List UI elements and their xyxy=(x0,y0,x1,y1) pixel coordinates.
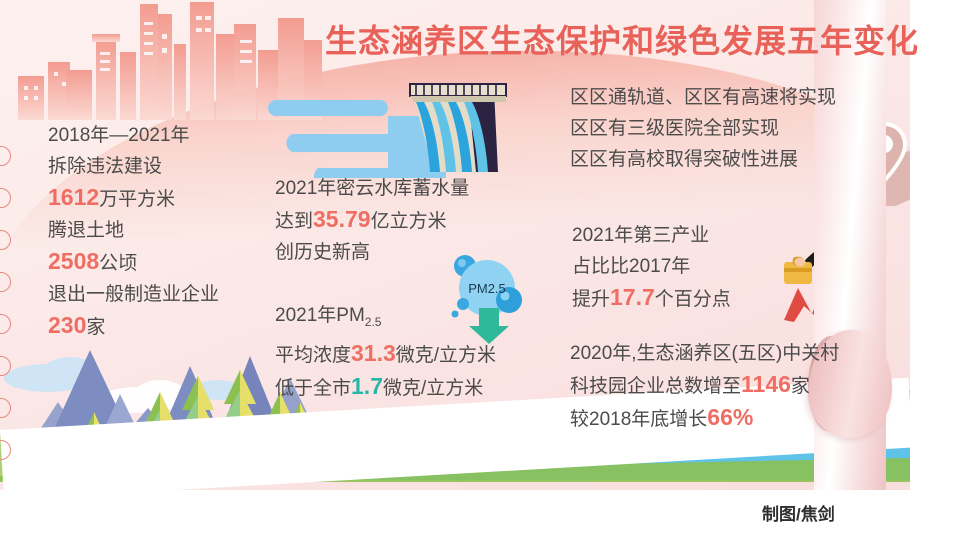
stat-line: 创历史新高 xyxy=(275,237,469,268)
stat-line: 2018年—2021年 xyxy=(48,120,219,151)
stat-line: 2020年,生态涵养区(五区)中关村 xyxy=(570,338,839,369)
stat-block-demolition: 2018年—2021年 拆除违法建设 1612万平方米 腾退土地 2508公顷 … xyxy=(48,120,219,343)
page-title: 生态涵养区生态保护和绿色发展五年变化 xyxy=(325,16,919,62)
stat-line: 较2018年底增长66% xyxy=(570,402,839,435)
stat-block-infrastructure: 区区通轨道、区区有高速将实现 区区有三级医院全部实现 区区有高校取得突破性进展 xyxy=(570,82,836,175)
stat-line: 平均浓度31.3微克/立方米 xyxy=(275,338,496,371)
pm25-label: PM2.5 xyxy=(468,281,506,296)
stat-line: 1612万平方米 xyxy=(48,182,219,215)
stat-line: 拆除违法建设 xyxy=(48,151,219,182)
stat-block-tertiary-industry: 2021年第三产业 占比比2017年 提升17.7个百分点 xyxy=(572,220,731,315)
dam-icon xyxy=(262,68,512,178)
stat-line: 区区通轨道、区区有高速将实现 xyxy=(570,82,836,113)
stat-line: 达到35.79亿立方米 xyxy=(275,204,469,237)
stat-line: 2508公顷 xyxy=(48,246,219,279)
stat-block-pm25: 2021年PM2.5 平均浓度31.3微克/立方米 低于全市1.7微克/立方米 xyxy=(275,300,496,404)
stat-line: 低于全市1.7微克/立方米 xyxy=(275,371,496,404)
stat-line: 提升17.7个百分点 xyxy=(572,282,731,315)
stat-block-reservoir: 2021年密云水库蓄水量 达到35.79亿立方米 创历史新高 xyxy=(275,173,469,268)
stat-line: 2021年PM2.5 xyxy=(275,300,496,338)
credit-line: 制图/焦剑 xyxy=(762,500,835,525)
stat-line: 科技园企业总数增至1146家 xyxy=(570,369,839,402)
stat-block-zhongguancun: 2020年,生态涵养区(五区)中关村 科技园企业总数增至1146家 较2018年… xyxy=(570,338,839,435)
stat-line: 2021年第三产业 xyxy=(572,220,731,251)
stat-line: 230家 xyxy=(48,310,219,343)
stat-line: 退出一般制造业企业 xyxy=(48,279,219,310)
infographic-canvas: PM2.5 xyxy=(0,0,974,538)
stat-line: 2021年密云水库蓄水量 xyxy=(275,173,469,204)
stat-line: 占比比2017年 xyxy=(572,251,731,282)
stat-line: 区区有三级医院全部实现 xyxy=(570,113,836,144)
stat-line: 腾退土地 xyxy=(48,215,219,246)
stat-line: 区区有高校取得突破性进展 xyxy=(570,144,836,175)
